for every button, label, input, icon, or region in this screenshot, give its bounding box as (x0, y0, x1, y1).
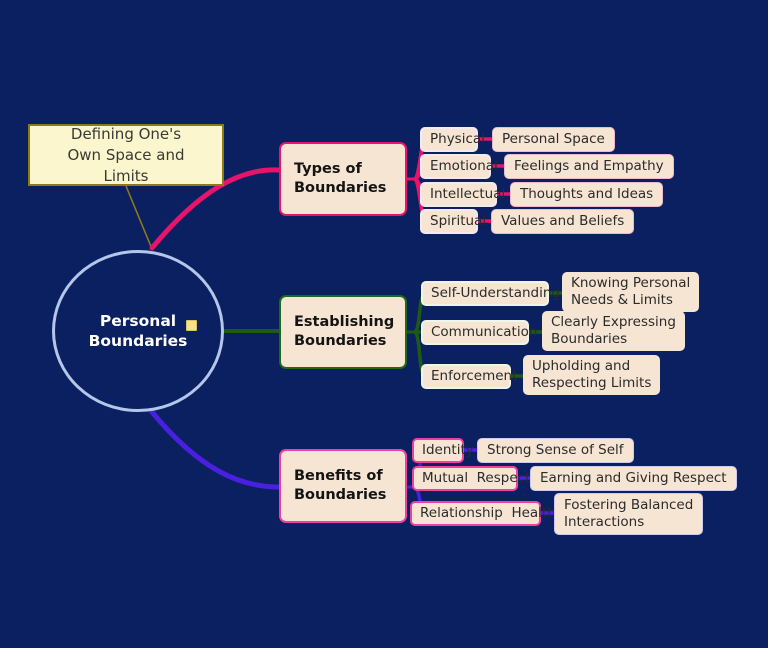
leaf-fostering-balanced-interactions[interactable]: Fostering Balanced Interactions (554, 493, 703, 535)
note-leader-line (126, 186, 152, 249)
subnode-mutual-respect[interactable]: Mutual Respect (412, 466, 518, 491)
branch-node-benefits-of-boundaries[interactable]: Benefits of Boundaries (279, 449, 407, 523)
subnode-self-understanding[interactable]: Self-Understanding (421, 281, 549, 306)
leaf-label: Fostering Balanced Interactions (564, 497, 693, 531)
leaf-clearly-expressing-boundaries[interactable]: Clearly Expressing Boundaries (542, 311, 685, 351)
subnode-label: Intellectual (430, 187, 487, 202)
note-marker-icon[interactable] (186, 320, 197, 331)
leaf-label: Earning and Giving Respect (540, 470, 727, 487)
branch-label: Types of Boundaries (294, 160, 392, 198)
subnode-label: Spiritual (430, 214, 468, 229)
subnode-emotional[interactable]: Emotional (420, 154, 491, 179)
leaf-label: Upholding and Respecting Limits (532, 358, 651, 392)
leaf-feelings-and-empathy[interactable]: Feelings and Empathy (504, 154, 674, 179)
root-node-label: Personal Boundaries (55, 311, 221, 351)
annotation-note[interactable]: Defining One's Own Space and Limits (28, 124, 224, 186)
leaf-label: Feelings and Empathy (514, 158, 664, 175)
edge-root-benefits (152, 412, 279, 487)
leaf-label: Knowing Personal Needs & Limits (571, 275, 690, 309)
branch-node-establishing-boundaries[interactable]: Establishing Boundaries (279, 295, 407, 369)
subnode-communication[interactable]: Communication (421, 320, 529, 345)
branch-label: Establishing Boundaries (294, 313, 392, 351)
subnode-label: Physical (430, 132, 468, 147)
leaf-thoughts-and-ideas[interactable]: Thoughts and Ideas (510, 182, 663, 207)
branch-label: Benefits of Boundaries (294, 467, 392, 505)
branch-node-types-of-boundaries[interactable]: Types of Boundaries (279, 142, 407, 216)
subnode-spiritual[interactable]: Spiritual (420, 209, 478, 234)
leaf-label: Clearly Expressing Boundaries (551, 314, 676, 348)
root-node-personal-boundaries[interactable]: Personal Boundaries (52, 250, 224, 412)
leaf-label: Strong Sense of Self (487, 442, 624, 459)
subnode-intellectual[interactable]: Intellectual (420, 182, 497, 207)
leaf-personal-space[interactable]: Personal Space (492, 127, 615, 152)
annotation-note-text: Defining One's Own Space and Limits (36, 124, 216, 187)
leaf-label: Values and Beliefs (501, 213, 624, 230)
subnode-label: Relationship Health (420, 506, 531, 521)
subnode-relationship-health[interactable]: Relationship Health (410, 501, 541, 526)
leaf-earning-and-giving-respect[interactable]: Earning and Giving Respect (530, 466, 737, 491)
subnode-label: Mutual Respect (422, 471, 508, 486)
mindmap-canvas: Defining One's Own Space and Limits Pers… (0, 0, 768, 648)
leaf-upholding-respecting-limits[interactable]: Upholding and Respecting Limits (523, 355, 660, 395)
leaf-label: Thoughts and Ideas (520, 186, 653, 203)
subnode-label: Communication (431, 325, 519, 340)
subnode-label: Self-Understanding (431, 286, 539, 301)
leaf-values-and-beliefs[interactable]: Values and Beliefs (491, 209, 634, 234)
leaf-strong-sense-of-self[interactable]: Strong Sense of Self (477, 438, 634, 463)
leaf-knowing-personal-needs-limits[interactable]: Knowing Personal Needs & Limits (562, 272, 699, 312)
subnode-label: Identity (422, 443, 454, 458)
leaf-label: Personal Space (502, 131, 605, 148)
subnode-identity[interactable]: Identity (412, 438, 464, 463)
subnode-label: Emotional (430, 159, 481, 174)
subnode-enforcement[interactable]: Enforcement (421, 364, 511, 389)
subnode-physical[interactable]: Physical (420, 127, 478, 152)
subnode-label: Enforcement (431, 369, 501, 384)
